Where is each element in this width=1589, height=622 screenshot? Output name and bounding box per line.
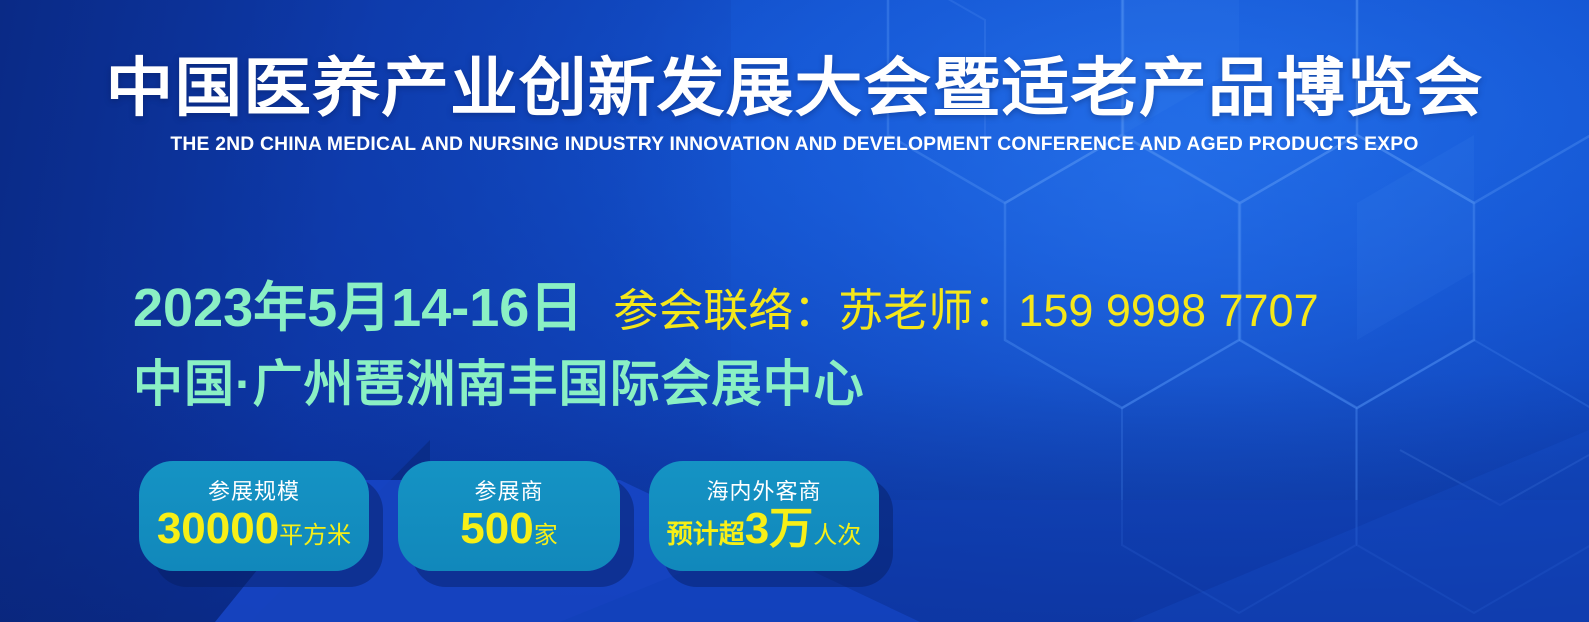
stat-value-main: 500 <box>460 507 533 551</box>
stat-value: 500 家 <box>460 507 557 551</box>
stat-value-main: 3万 <box>745 507 813 551</box>
stat-value-unit: 家 <box>534 524 558 548</box>
conference-title-chinese: 中国医养产业创新发展大会暨适老产品博览会 <box>0 56 1589 120</box>
stat-value-prefix: 预计超 <box>667 521 745 547</box>
stat-pill-visitors: 海内外客商 预计超 3万 人次 <box>649 461 879 571</box>
stat-pill-exhibitors: 参展商 500 家 <box>398 461 620 571</box>
stats-row: 参展规模 30000 平方米 参展商 500 家 海内外客商 预计超 3万 人 <box>139 461 879 571</box>
stat-pill-exhibition-area: 参展规模 30000 平方米 <box>139 461 369 571</box>
stat-value-unit: 平方米 <box>279 524 351 548</box>
date-and-contact-line: 2023年5月14-16日 参会联络：苏老师： 159 9998 7707 <box>133 281 1319 335</box>
stat-label: 海内外客商 <box>706 481 821 503</box>
event-info-block: 2023年5月14-16日 参会联络：苏老师： 159 9998 7707 中国… <box>133 281 1319 409</box>
stat-value: 预计超 3万 人次 <box>667 507 862 551</box>
stat-value-unit: 人次 <box>813 524 861 548</box>
event-banner: 中国医养产业创新发展大会暨适老产品博览会 THE 2ND CHINA MEDIC… <box>0 0 1589 622</box>
contact-label: 参会联络：苏老师： <box>613 288 1018 333</box>
title-block: 中国医养产业创新发展大会暨适老产品博览会 THE 2ND CHINA MEDIC… <box>0 56 1589 156</box>
stat-label: 参展商 <box>474 481 543 503</box>
conference-title-english: THE 2ND CHINA MEDICAL AND NURSING INDUST… <box>8 133 1581 156</box>
banner-content: 中国医养产业创新发展大会暨适老产品博览会 THE 2ND CHINA MEDIC… <box>0 0 1589 622</box>
stat-label: 参展规模 <box>208 481 300 503</box>
event-date: 2023年5月14-16日 <box>133 281 583 335</box>
event-venue: 中国·广州琶洲南丰国际会展中心 <box>133 359 1319 409</box>
contact-phone-number[interactable]: 159 9998 7707 <box>1018 288 1318 333</box>
stat-value: 30000 平方米 <box>157 507 351 551</box>
stat-value-main: 30000 <box>157 507 279 551</box>
